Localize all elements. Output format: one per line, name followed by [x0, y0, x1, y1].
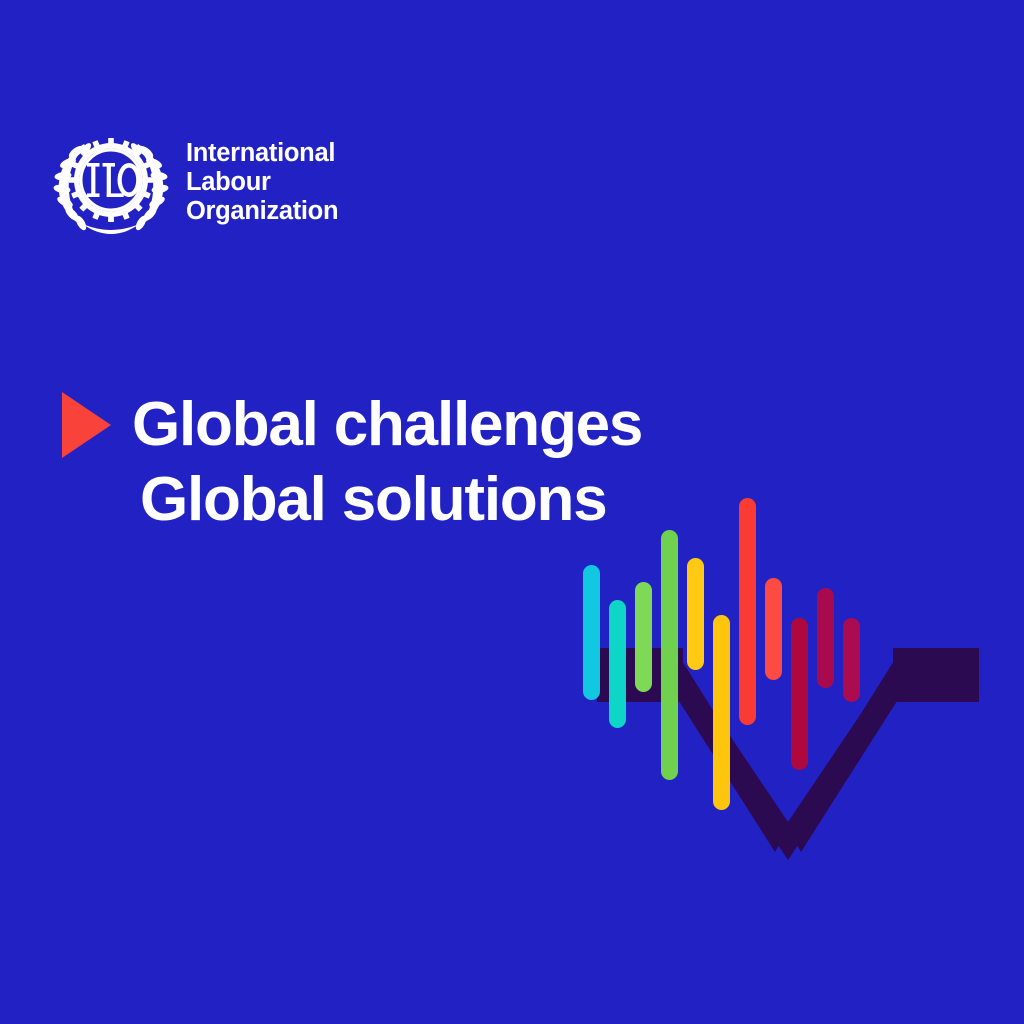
equalizer-bar-6 [713, 615, 730, 810]
downward-arrow-equalizer-graphic [575, 470, 995, 870]
play-triangle-icon [62, 392, 111, 458]
equalizer-bar-10 [817, 588, 834, 688]
equalizer-bar-8 [765, 578, 782, 680]
equalizer-bars-icon [583, 498, 860, 810]
equalizer-bar-3 [635, 582, 652, 692]
logo-text-line-1: International [186, 139, 338, 168]
equalizer-bar-9 [791, 618, 808, 770]
ilo-logo-text: International Labour Organization [186, 139, 338, 226]
graphic-svg [575, 470, 995, 870]
arrow-down-chevron-icon [597, 648, 979, 860]
equalizer-bar-5 [687, 558, 704, 670]
headline-row-first: Global challenges [62, 385, 762, 464]
equalizer-bar-7 [739, 498, 756, 725]
headline-line-1: Global challenges [132, 385, 642, 464]
equalizer-bar-4 [661, 530, 678, 780]
logo-text-line-3: Organization [186, 197, 338, 226]
equalizer-bar-2 [609, 600, 626, 728]
poster-canvas: International Labour Organization Global… [0, 0, 1024, 1024]
logo-text-line-2: Labour [186, 168, 338, 197]
ilo-emblem-icon [50, 130, 172, 235]
equalizer-bar-1 [583, 565, 600, 700]
equalizer-bar-11 [843, 618, 860, 702]
ilo-logo-lockup[interactable]: International Labour Organization [50, 130, 338, 235]
